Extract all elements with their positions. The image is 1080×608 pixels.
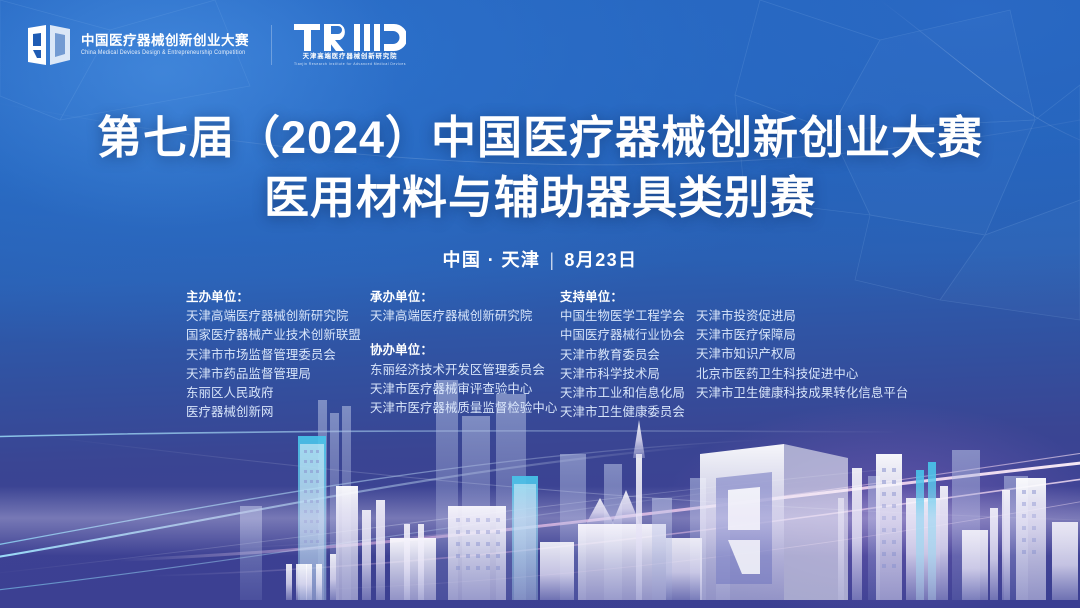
trimd-wordmark-icon <box>294 24 406 51</box>
coorganizer-heading: 协办单位： <box>370 341 560 360</box>
organizer-column-host: 主办单位： 天津高端医疗器械创新研究院 国家医疗器械产业技术创新联盟 天津市市场… <box>186 288 370 423</box>
coorganizer-item: 天津市医疗器械审评查验中心 <box>370 380 560 399</box>
open-door-icon <box>26 24 72 66</box>
host-item: 天津市市场监督管理委员会 <box>186 346 370 365</box>
supporter-item: 中国生物医学工程学会 <box>560 307 696 326</box>
title-block: 第七届（2024）中国医疗器械创新创业大赛 医用材料与辅助器具类别赛 中国 · … <box>0 112 1080 272</box>
organizer-column-organizer: 承办单位： 天津高端医疗器械创新研究院 协办单位： 东丽经济技术开发区管理委员会… <box>370 288 560 418</box>
organizer-columns: 主办单位： 天津高端医疗器械创新研究院 国家医疗器械产业技术创新联盟 天津市市场… <box>186 288 896 423</box>
coorganizer-item: 东丽经济技术开发区管理委员会 <box>370 361 560 380</box>
supporter-item: 天津市知识产权局 <box>696 345 896 364</box>
header-logo-bar: 中国医疗器械创新创业大赛 China Medical Devices Desig… <box>26 24 406 67</box>
host-item: 天津高端医疗器械创新研究院 <box>186 307 370 326</box>
supporters-right: 天津市投资促进局 天津市医疗保障局 天津市知识产权局 北京市医药卫生科技促进中心… <box>696 288 896 423</box>
host-heading: 主办单位： <box>186 288 370 307</box>
competition-logo-cn: 中国医疗器械创新创业大赛 <box>81 34 249 48</box>
event-date: 8月23日 <box>564 250 637 270</box>
event-title-line1: 第七届（2024）中国医疗器械创新创业大赛 <box>0 112 1080 164</box>
event-title-line2: 医用材料与辅助器具类别赛 <box>0 172 1080 224</box>
supporter-item: 天津市卫生健康委员会 <box>560 403 696 422</box>
organizer-column-supporters: 支持单位： 中国生物医学工程学会 中国医疗器械行业协会 天津市教育委员会 天津市… <box>560 288 896 423</box>
supporter-item: 天津市教育委员会 <box>560 346 696 365</box>
event-subtitle: 中国 · 天津|8月23日 <box>0 246 1080 272</box>
supporters-left: 支持单位： 中国生物医学工程学会 中国医疗器械行业协会 天津市教育委员会 天津市… <box>560 288 696 423</box>
event-location: 中国 · 天津 <box>443 250 541 270</box>
competition-logo-en: China Medical Devices Design & Entrepren… <box>81 51 249 57</box>
supporter-heading: 支持单位： <box>560 288 696 307</box>
trimd-logo-en: Tianjin Research Institute for Advanced … <box>294 63 406 66</box>
supporter-item: 天津市投资促进局 <box>696 307 896 326</box>
column-spacer <box>370 326 560 341</box>
event-poster: 中国医疗器械创新创业大赛 China Medical Devices Desig… <box>0 0 1080 608</box>
host-item: 国家医疗器械产业技术创新联盟 <box>186 326 370 345</box>
coorganizer-item: 天津市医疗器械质量监督检验中心 <box>370 399 560 418</box>
trimd-logo-cn: 天津高端医疗器械创新研究院 <box>303 54 398 60</box>
supporter-item: 天津市卫生健康科技成果转化信息平台 <box>696 384 896 403</box>
trimd-logo: 天津高端医疗器械创新研究院 Tianjin Research Institute… <box>294 24 406 67</box>
competition-logo-text: 中国医疗器械创新创业大赛 China Medical Devices Desig… <box>81 34 249 56</box>
organizer-item: 天津高端医疗器械创新研究院 <box>370 307 560 326</box>
ground-glow-haze <box>0 486 1080 556</box>
host-item: 医疗器械创新网 <box>186 403 370 422</box>
competition-logo: 中国医疗器械创新创业大赛 China Medical Devices Desig… <box>26 24 249 66</box>
supporter-item: 北京市医药卫生科技促进中心 <box>696 365 896 384</box>
host-item: 天津市药品监督管理局 <box>186 365 370 384</box>
supporter-item: 天津市工业和信息化局 <box>560 384 696 403</box>
supporter-item: 天津市医疗保障局 <box>696 326 896 345</box>
column-spacer <box>696 288 896 307</box>
supporter-item: 天津市科学技术局 <box>560 365 696 384</box>
supporter-item: 中国医疗器械行业协会 <box>560 326 696 345</box>
logo-divider <box>271 25 272 65</box>
organizer-heading: 承办单位： <box>370 288 560 307</box>
subtitle-separator: | <box>549 250 555 271</box>
host-item: 东丽区人民政府 <box>186 384 370 403</box>
